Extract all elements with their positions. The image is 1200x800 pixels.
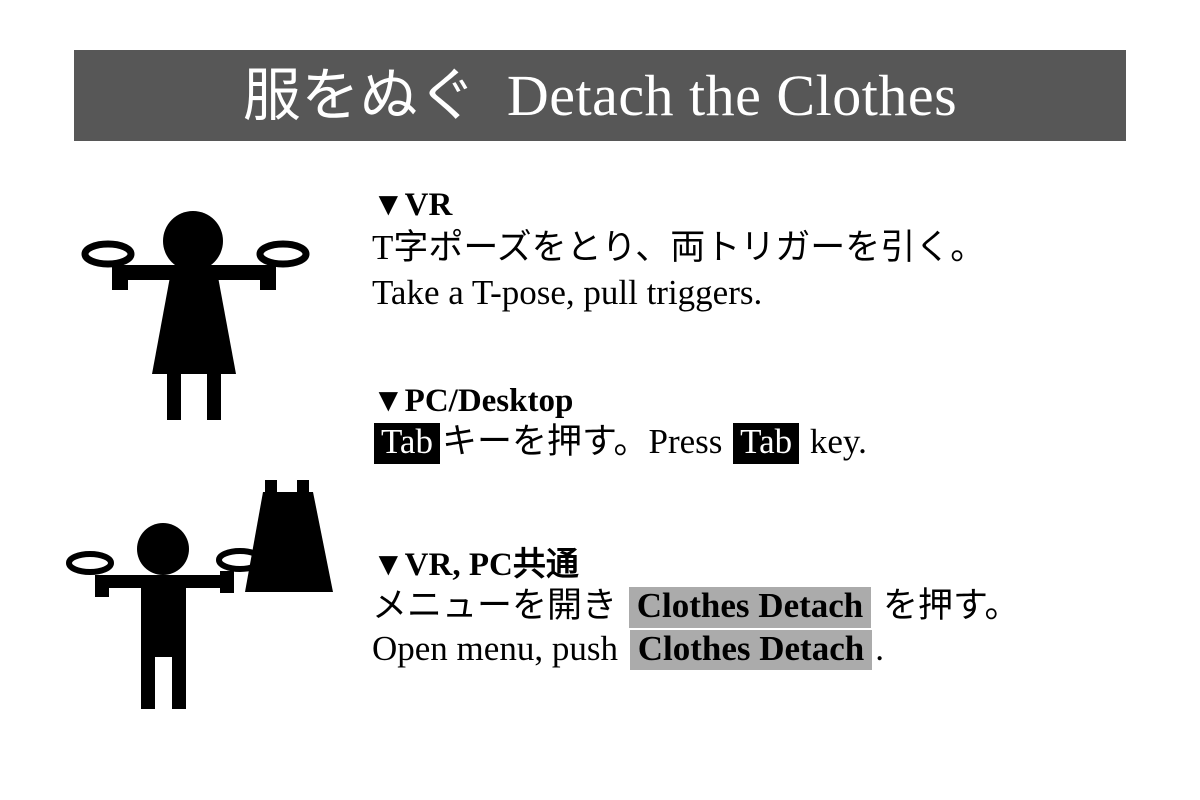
page-title: 服をぬぐ Detach the Clothes xyxy=(243,67,957,125)
figure-head xyxy=(163,211,223,271)
figure-right-hand xyxy=(260,265,276,290)
tab-key-badge-jp: Tab xyxy=(374,423,440,464)
right-controller-ring xyxy=(260,244,306,264)
block-pc-line: Tabキーを押す。Press Tab key. xyxy=(372,421,867,464)
common-en-after: . xyxy=(875,629,884,668)
common-jp-after: を押す。 xyxy=(883,586,1020,625)
block-common-line-en: Open menu, push Clothes Detach. xyxy=(372,628,1020,671)
block-pc-heading: ▼PC/Desktop xyxy=(372,382,867,421)
tab-key-badge-en: Tab xyxy=(733,423,799,464)
figure-right-hand xyxy=(220,571,234,593)
header-banner: 服をぬぐ Detach the Clothes xyxy=(74,50,1126,141)
common-jp-before: メニューを開き xyxy=(372,586,617,625)
figure-dress xyxy=(152,266,236,374)
figure-left-hand xyxy=(112,265,128,290)
figure-right-leg xyxy=(172,657,186,709)
figure-left-leg xyxy=(141,657,155,709)
block-common-line-jp: メニューを開き Clothes Detach を押す。 xyxy=(372,585,1020,628)
block-vr-heading: ▼VR xyxy=(372,186,985,225)
detached-dress xyxy=(245,480,333,592)
block-pc-jp-text: キーを押す。 xyxy=(442,422,649,461)
common-en-before: Open menu, push xyxy=(372,629,618,668)
clothes-detached-figure xyxy=(60,462,352,712)
instruction-block-vr: ▼VR T字ポーズをとり、両トリガーを引く。 Take a T-pose, pu… xyxy=(372,186,985,316)
figure-left-hand xyxy=(95,575,109,597)
left-controller-ring xyxy=(85,244,131,264)
figure-right-leg xyxy=(207,374,221,420)
block-vr-line-en: Take a T-pose, pull triggers. xyxy=(372,270,985,316)
tpose-figure-glyph xyxy=(85,211,306,420)
instruction-block-pc: ▼PC/Desktop Tabキーを押す。Press Tab key. xyxy=(372,382,867,464)
block-pc-en-press: Press xyxy=(649,422,723,461)
detached-figure-glyph xyxy=(69,480,333,709)
clothes-detach-badge-jp: Clothes Detach xyxy=(629,587,872,628)
instruction-block-common: ▼VR, PC共通 メニューを開き Clothes Detach を押す。 Op… xyxy=(372,546,1020,670)
block-pc-en-text: key. xyxy=(810,422,867,461)
figure-head xyxy=(137,523,189,575)
left-controller-ring xyxy=(69,554,111,572)
figure-left-leg xyxy=(167,374,181,420)
clothes-detach-badge-en: Clothes Detach xyxy=(630,630,873,671)
vr-tpose-figure xyxy=(70,196,332,424)
figure-torso xyxy=(141,575,186,657)
block-vr-line-jp: T字ポーズをとり、両トリガーを引く。 xyxy=(372,225,985,271)
block-common-heading: ▼VR, PC共通 xyxy=(372,546,1020,585)
